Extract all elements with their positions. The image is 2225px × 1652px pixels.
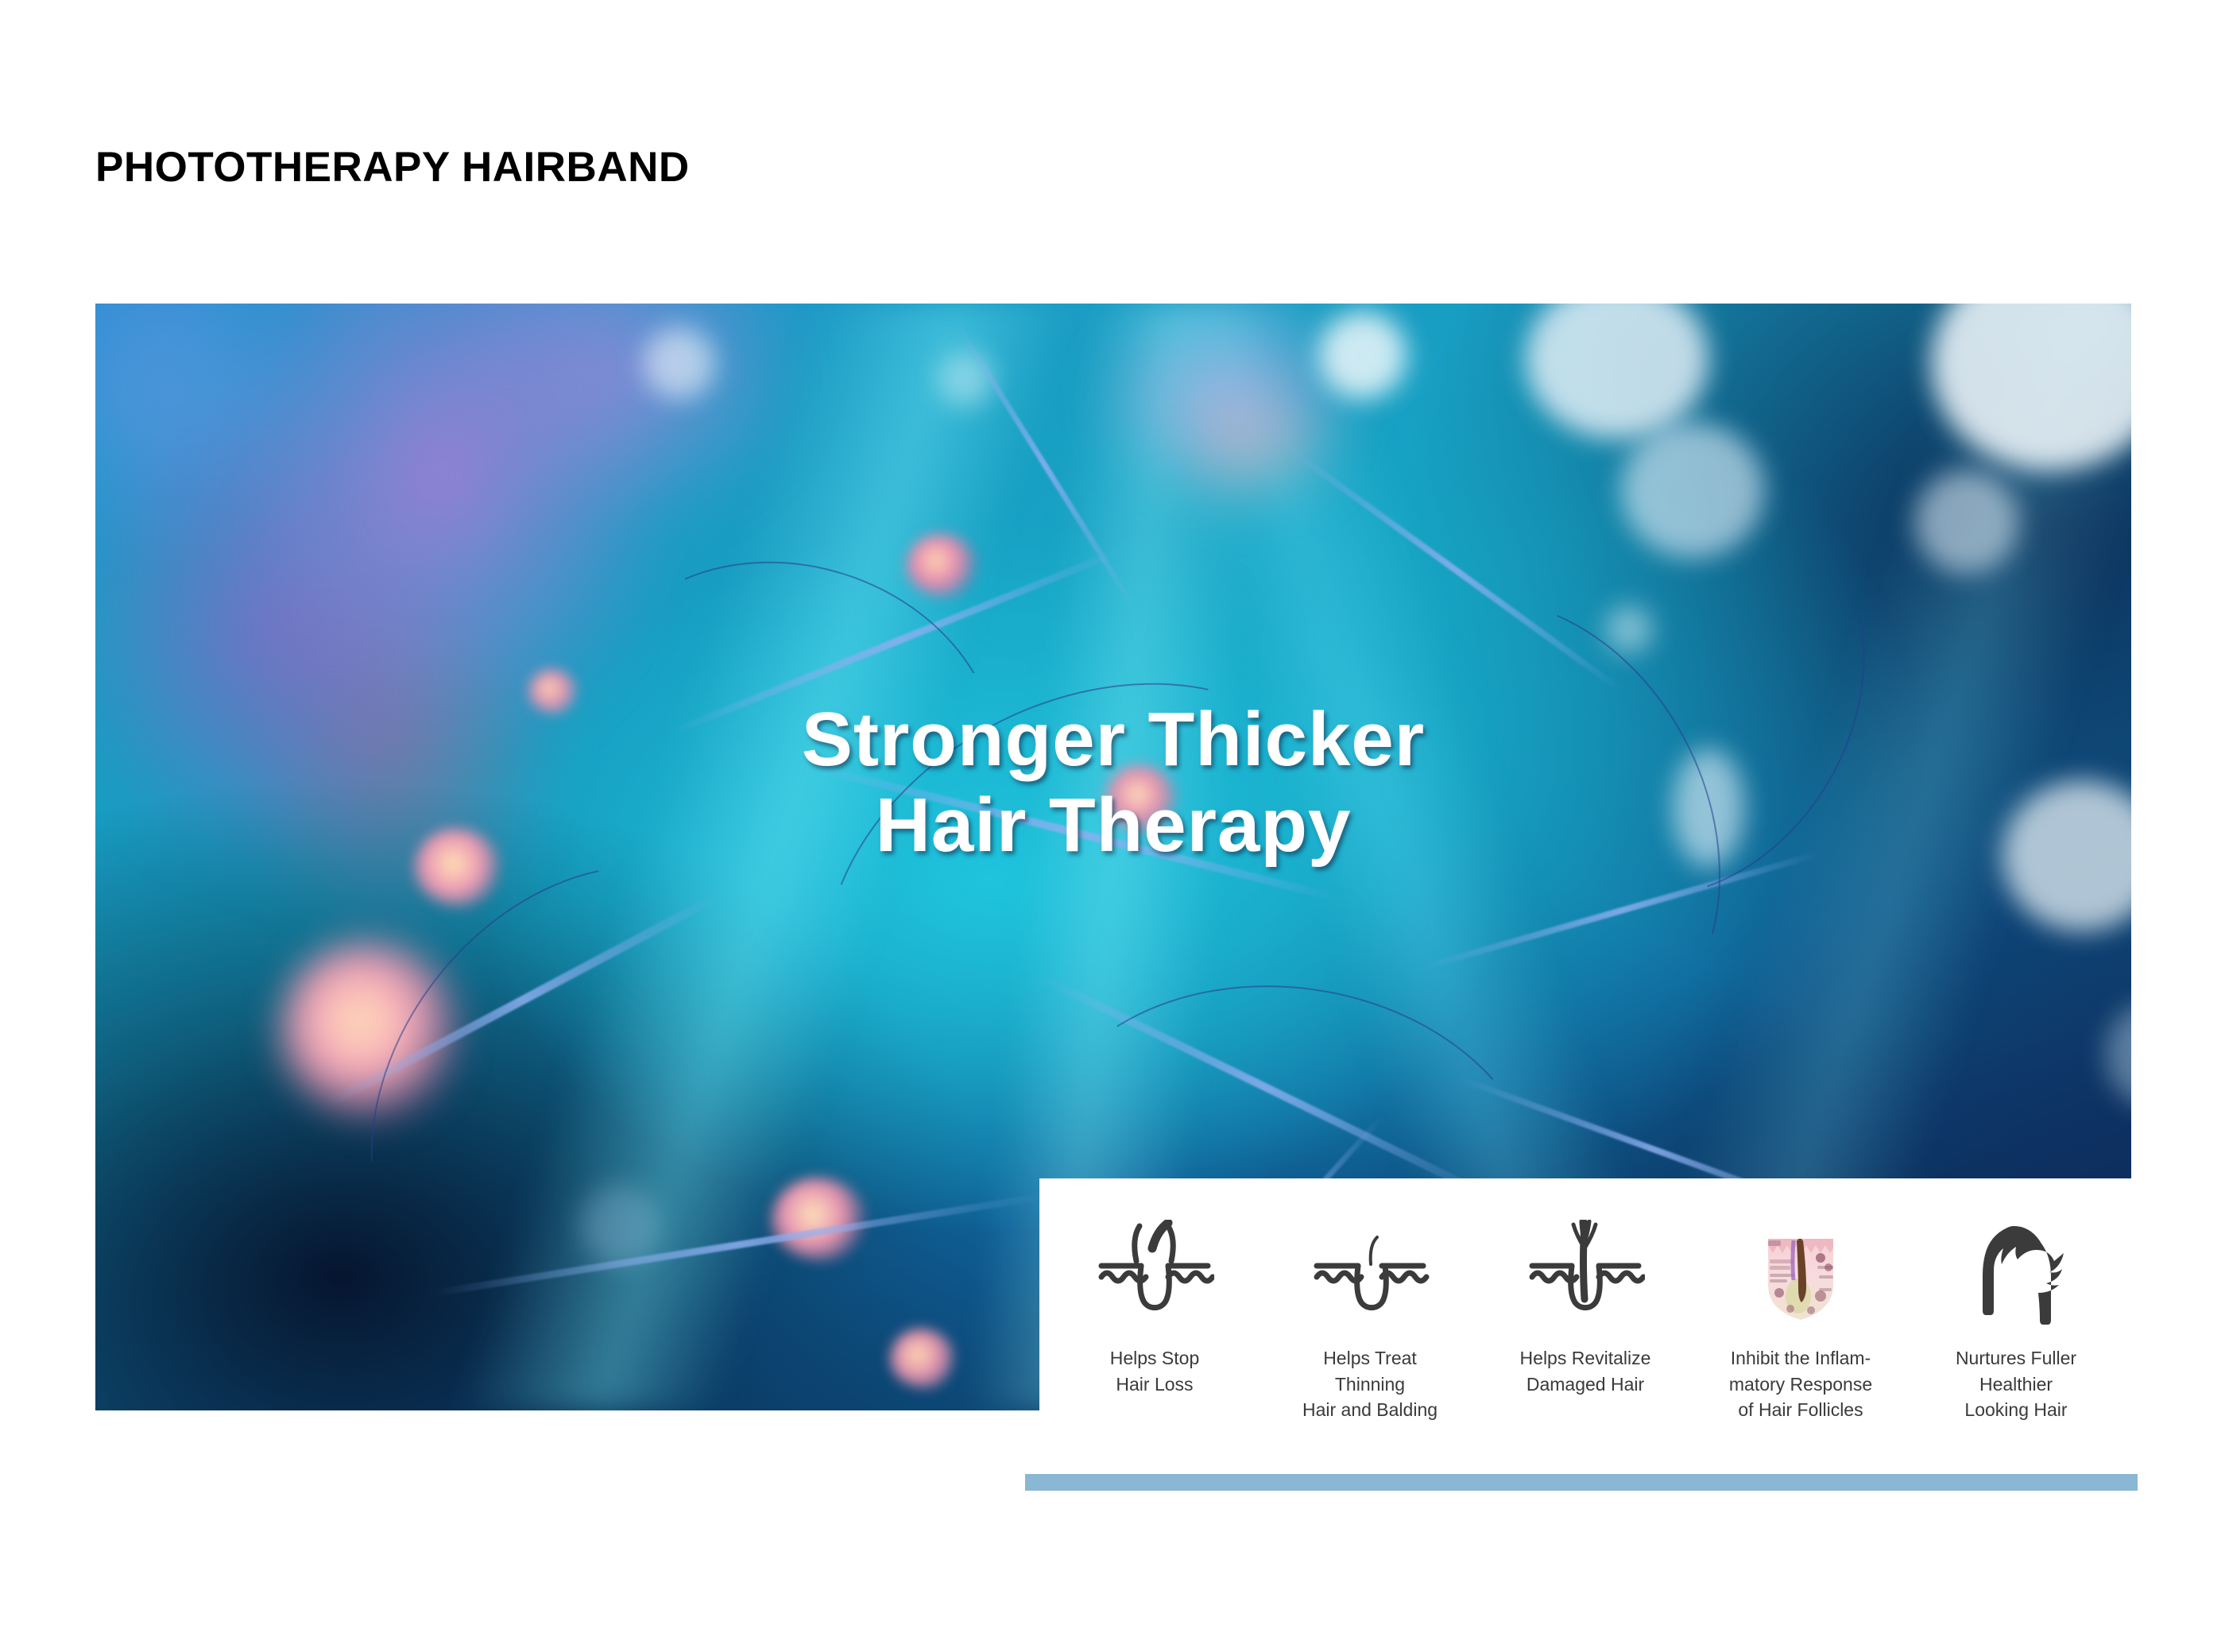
hair-loss-follicle-icon <box>1091 1220 1218 1325</box>
feature-caption: Helps Revitalize Damaged Hair <box>1520 1345 1651 1397</box>
feature-item: Inhibit the Inflam- matory Response of H… <box>1722 1220 1879 1423</box>
headline-line-1: Stronger Thicker <box>95 697 2131 783</box>
bokeh-disc <box>1915 470 2018 574</box>
page-title: PHOTOTHERAPY HAIRBAND <box>95 145 690 191</box>
hero-headline: Stronger Thicker Hair Therapy <box>95 697 2131 868</box>
neuron-soma <box>890 1329 954 1388</box>
feature-item: Helps Revitalize Damaged Hair <box>1507 1220 1664 1397</box>
thinning-follicle-icon <box>1306 1220 1434 1325</box>
feature-item: Nurtures Fuller Healthier Looking Hair <box>1937 1220 2095 1423</box>
feature-caption: Helps Stop Hair Loss <box>1110 1345 1200 1397</box>
revitalized-follicle-icon <box>1522 1220 1649 1325</box>
neuron-soma <box>906 534 977 598</box>
feature-caption: Nurtures Fuller Healthier Looking Hair <box>1956 1345 2076 1423</box>
headline-line-2: Hair Therapy <box>95 783 2131 869</box>
feature-item: Helps Treat Thinning Hair and Balding <box>1291 1220 1449 1423</box>
feature-caption: Helps Treat Thinning Hair and Balding <box>1291 1345 1449 1423</box>
accent-bar <box>1025 1474 2138 1491</box>
neuron-soma <box>771 1178 866 1261</box>
feature-caption: Inhibit the Inflam- matory Response of H… <box>1729 1345 1872 1423</box>
full-hair-silhouette-icon <box>1952 1220 2080 1325</box>
bokeh-disc <box>644 327 715 399</box>
inflamed-follicle-cross-section-icon <box>1737 1220 1864 1325</box>
bokeh-disc <box>1319 311 1407 399</box>
feature-item: Helps Stop Hair Loss <box>1076 1220 1233 1397</box>
bokeh-disc <box>938 351 993 407</box>
feature-panel: Helps Stop Hair Loss Helps Treat Thinnin… <box>1039 1178 2131 1449</box>
